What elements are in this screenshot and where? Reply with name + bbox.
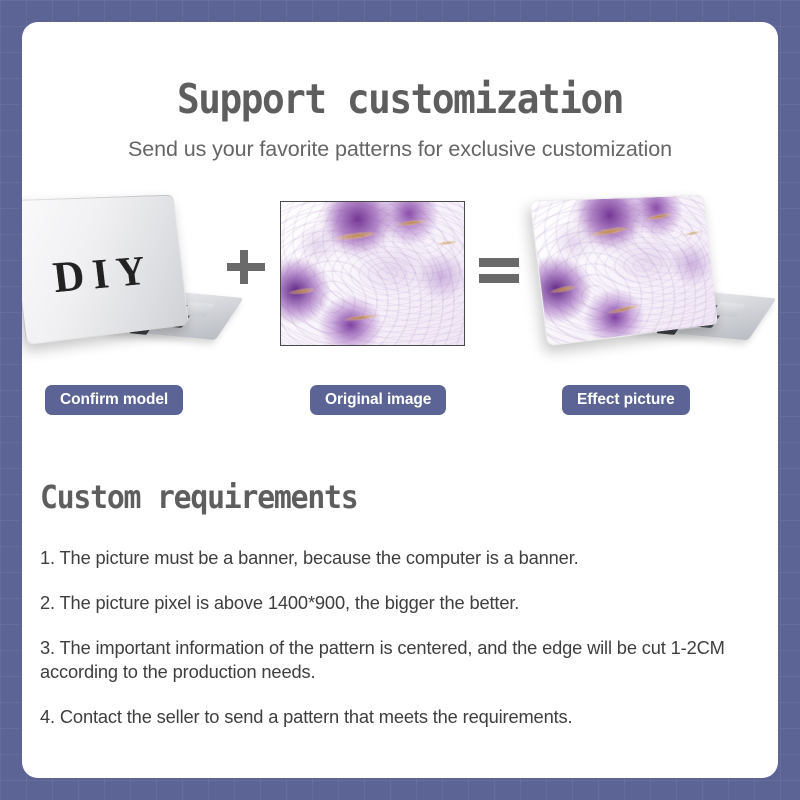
original-image-frame [280, 201, 465, 346]
plus-operator-icon [225, 246, 267, 288]
requirements-heading: Custom requirements [40, 481, 726, 513]
laptop-lid-skinned [530, 195, 720, 347]
page-frame: Support customization Send us your favor… [0, 0, 800, 800]
content-card: Support customization Send us your favor… [22, 22, 778, 778]
requirements-list: 1. The picture must be a banner, because… [40, 546, 730, 730]
badge-confirm-model: Confirm model [45, 385, 183, 416]
laptop-plain-illustration: DIY [25, 191, 225, 351]
badge-original-image: Original image [310, 385, 446, 416]
equals-operator-icon [477, 246, 519, 288]
customization-diagram: DIY [22, 191, 778, 371]
requirement-item: 3. The important information of the patt… [40, 636, 730, 684]
page-title: Support customization [52, 79, 748, 120]
purple-marble-artwork [281, 202, 464, 345]
requirement-item: 2. The picture pixel is above 1400*900, … [40, 591, 730, 615]
laptop-skinned-illustration [547, 191, 757, 351]
stage-original-image [280, 201, 465, 346]
laptop-lid: DIY [22, 195, 189, 346]
stage-label-row: Confirm model Original image Effect pict… [22, 385, 778, 419]
stage-effect-picture [547, 191, 757, 351]
requirement-item: 4. Contact the seller to send a pattern … [40, 705, 730, 729]
stage-confirm-model: DIY [25, 191, 225, 351]
diy-lid-text: DIY [22, 243, 184, 306]
badge-effect-picture: Effect picture [562, 385, 690, 416]
requirement-item: 1. The picture must be a banner, because… [40, 546, 730, 570]
page-subtitle: Send us your favorite patterns for exclu… [22, 137, 778, 163]
purple-marble-skin [531, 196, 718, 346]
header: Support customization Send us your favor… [22, 22, 778, 163]
